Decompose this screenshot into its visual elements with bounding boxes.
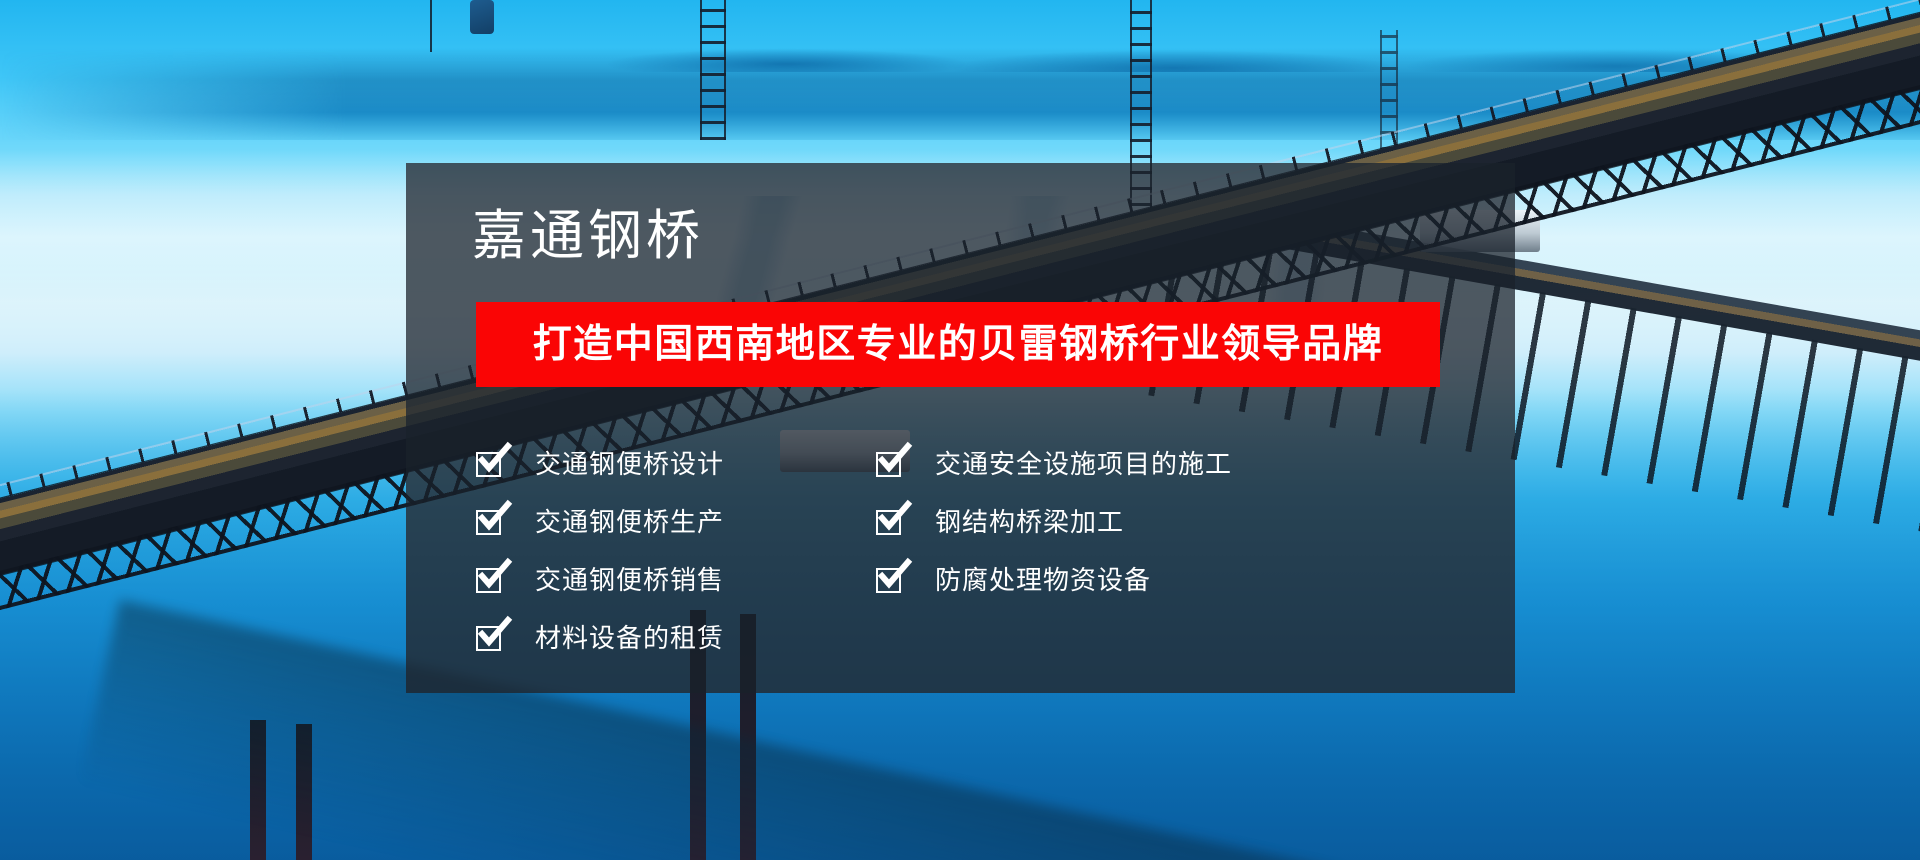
- service-item[interactable]: 钢结构桥梁加工: [876, 493, 1316, 551]
- service-label: 防腐处理物资设备: [935, 567, 1151, 593]
- company-title: 嘉通钢桥: [472, 209, 704, 263]
- service-label: 交通钢便桥销售: [535, 567, 724, 593]
- hero-banner-stage: 嘉通钢桥 打造中国西南地区专业的贝雷钢桥行业领导品牌 交通钢便桥设计 交通安全设…: [0, 0, 1920, 860]
- service-item[interactable]: 交通钢便桥生产: [476, 493, 876, 551]
- checkbox-checked-icon: [476, 626, 501, 651]
- crane-hook: [470, 0, 494, 34]
- crane-cable-left: [430, 0, 432, 52]
- service-label: 材料设备的租赁: [535, 625, 724, 651]
- checkbox-checked-icon: [876, 452, 901, 477]
- service-label: 交通钢便桥生产: [535, 509, 724, 535]
- service-item[interactable]: 交通安全设施项目的施工: [876, 435, 1316, 493]
- service-item[interactable]: 防腐处理物资设备: [876, 551, 1316, 609]
- checkbox-checked-icon: [476, 452, 501, 477]
- checkbox-checked-icon: [476, 510, 501, 535]
- slogan-text: 打造中国西南地区专业的贝雷钢桥行业领导品牌: [533, 325, 1384, 364]
- service-label: 钢结构桥梁加工: [935, 509, 1124, 535]
- service-label: 交通安全设施项目的施工: [935, 451, 1232, 477]
- checkbox-checked-icon: [876, 510, 901, 535]
- services-list: 交通钢便桥设计 交通安全设施项目的施工 交通钢便桥生产 钢结构桥梁加工: [476, 435, 1476, 667]
- service-item[interactable]: 材料设备的租赁: [476, 609, 876, 667]
- checkbox-checked-icon: [876, 568, 901, 593]
- content-overlay-panel: 嘉通钢桥 打造中国西南地区专业的贝雷钢桥行业领导品牌 交通钢便桥设计 交通安全设…: [406, 163, 1515, 693]
- crane-mast-left: [700, 0, 726, 140]
- slogan-banner: 打造中国西南地区专业的贝雷钢桥行业领导品牌: [476, 302, 1440, 387]
- service-item[interactable]: 交通钢便桥设计: [476, 435, 876, 493]
- checkbox-checked-icon: [476, 568, 501, 593]
- service-item[interactable]: 交通钢便桥销售: [476, 551, 876, 609]
- service-label: 交通钢便桥设计: [535, 451, 724, 477]
